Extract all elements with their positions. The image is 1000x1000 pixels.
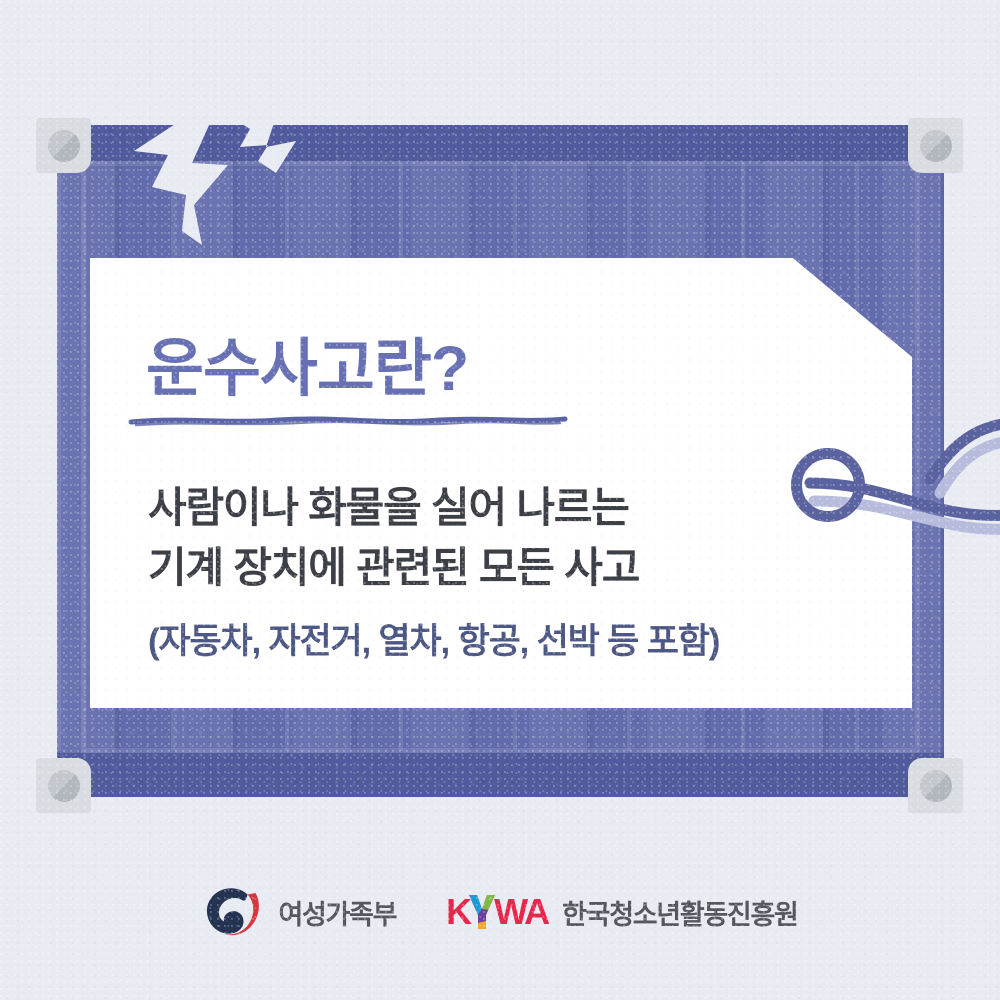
kywa-wordmark-icon: K WA [446, 893, 548, 931]
body-note: (자동차, 자전거, 열차, 항공, 선박 등 포함) [148, 613, 719, 664]
footer-logos: 여성가족부 K WA 한국청소년활동진흥원 [0, 872, 1000, 952]
body-line-2: 기계 장치에 관련된 모든 사고 [148, 538, 788, 598]
agency-name: 한국청소년활동진흥원 [562, 893, 797, 932]
kywa-letters-wa: WA [494, 894, 548, 930]
kywa-letter-k: K [446, 894, 470, 930]
kywa-letter-y-icon [469, 893, 495, 931]
screw-bottom-right [908, 758, 963, 813]
screw-top-right [908, 118, 963, 173]
agency-logo-group: K WA 한국청소년활동진흥원 [446, 893, 797, 932]
body-line-1: 사람이나 화물을 실어 나르는 [148, 478, 788, 538]
poster-canvas: 운수사고란? 사람이나 화물을 실어 나르는 기계 장치에 관련된 모든 사고 … [0, 0, 1000, 1000]
screw-head-icon [48, 130, 80, 162]
page-title: 운수사고란? [146, 318, 468, 409]
title-underline [128, 414, 568, 428]
screw-top-left [36, 118, 91, 173]
screw-head-icon [920, 770, 952, 802]
screw-bottom-left [36, 758, 91, 813]
screw-head-icon [920, 130, 952, 162]
body-text: 사람이나 화물을 실어 나르는 기계 장치에 관련된 모든 사고 [148, 478, 788, 599]
hand-drawn-underline-icon [128, 414, 568, 428]
screw-head-icon [48, 770, 80, 802]
ministry-logo-group: 여성가족부 [202, 881, 396, 943]
ministry-name: 여성가족부 [278, 893, 396, 932]
tag-eyelet-ring [791, 448, 865, 522]
taegeuk-emblem-icon [202, 881, 264, 943]
